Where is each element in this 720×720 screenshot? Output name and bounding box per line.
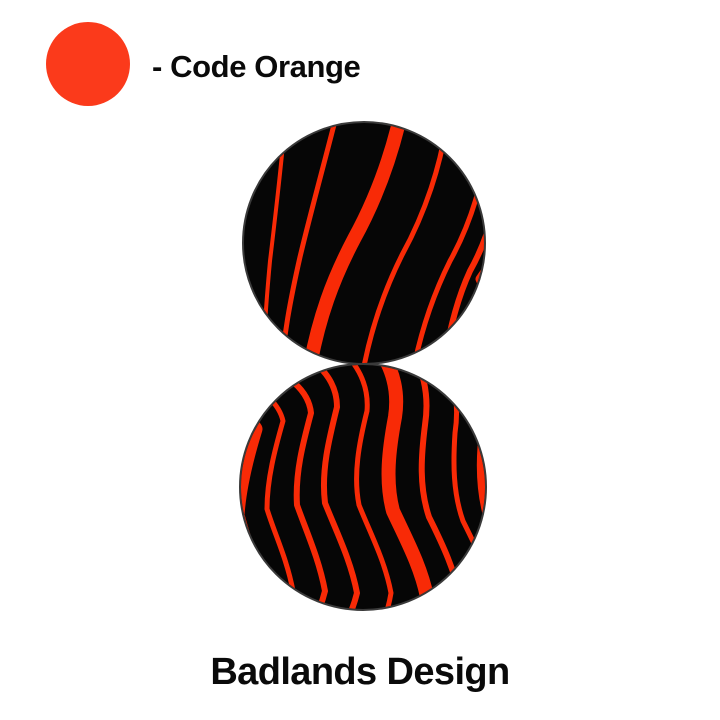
contour-badge-bottom-graphic xyxy=(239,363,487,611)
design-canvas: - Code Orange xyxy=(0,0,720,720)
contour-badge-bottom xyxy=(239,363,487,611)
contour-badge-top xyxy=(242,121,486,365)
badge-bottom-disc xyxy=(240,364,486,610)
color-swatch-label: - Code Orange xyxy=(152,51,360,82)
color-swatch-circle xyxy=(46,22,130,106)
brand-name: Badlands Design xyxy=(0,653,720,691)
color-swatch-row: - Code Orange xyxy=(46,22,360,106)
contour-badge-top-graphic xyxy=(242,121,486,365)
